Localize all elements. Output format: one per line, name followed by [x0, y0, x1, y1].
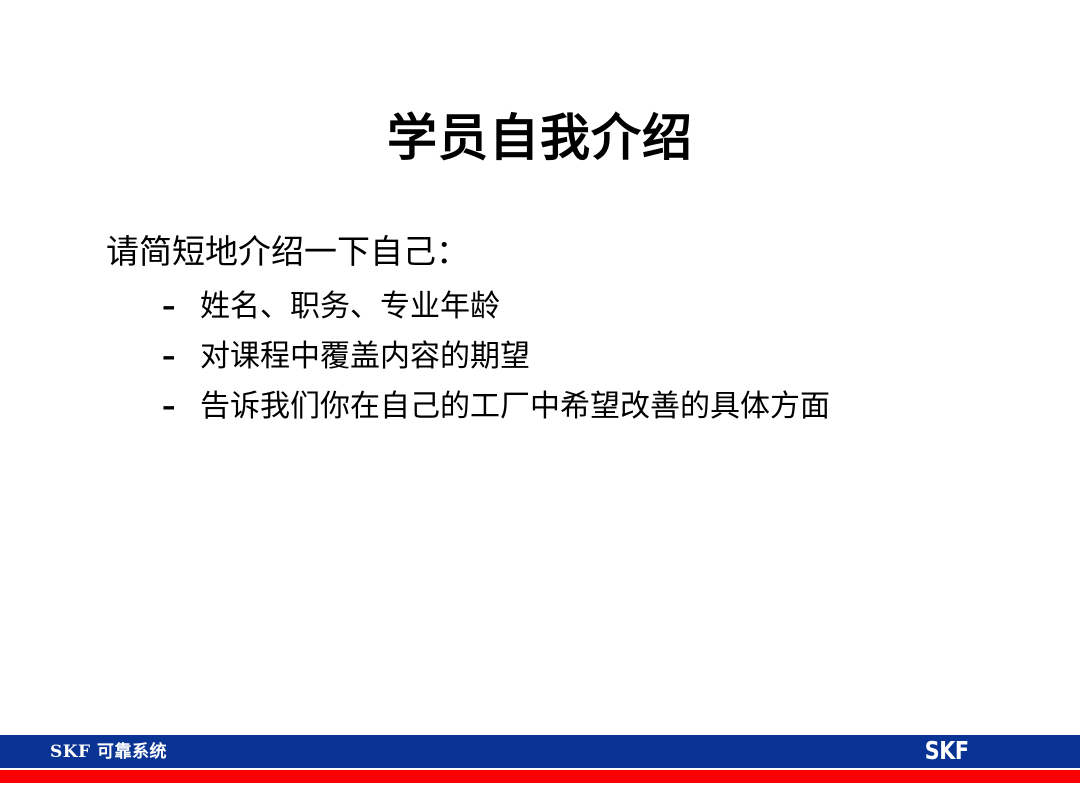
- skf-logo: SKF: [924, 738, 968, 764]
- dash-bullet-icon: –: [162, 382, 190, 432]
- footer-red-band: [0, 770, 1080, 783]
- dash-bullet-icon: –: [162, 332, 190, 382]
- slide-footer: SKF 可靠系统 SKF: [0, 730, 1080, 810]
- list-item-label: 姓名、职务、专业年龄: [200, 282, 500, 332]
- dash-bullet-icon: –: [162, 282, 190, 332]
- slide-canvas: 学员自我介绍 请简短地介绍一下自己： – 姓名、职务、专业年龄 – 对课程中覆盖…: [0, 0, 1080, 810]
- footer-label: SKF 可靠系统: [50, 740, 167, 764]
- list-item: – 姓名、职务、专业年龄: [106, 282, 1006, 332]
- page-title: 学员自我介绍: [0, 108, 1080, 168]
- slide-body: 请简短地介绍一下自己： – 姓名、职务、专业年龄 – 对课程中覆盖内容的期望 –…: [106, 228, 1006, 432]
- list-item: – 告诉我们你在自己的工厂中希望改善的具体方面: [106, 382, 1006, 432]
- bullet-list: – 姓名、职务、专业年龄 – 对课程中覆盖内容的期望 – 告诉我们你在自己的工厂…: [106, 282, 1006, 432]
- list-item-label: 对课程中覆盖内容的期望: [200, 332, 530, 382]
- list-item: – 对课程中覆盖内容的期望: [106, 332, 1006, 382]
- body-lead-line: 请简短地介绍一下自己：: [106, 228, 1006, 276]
- list-item-label: 告诉我们你在自己的工厂中希望改善的具体方面: [200, 382, 830, 432]
